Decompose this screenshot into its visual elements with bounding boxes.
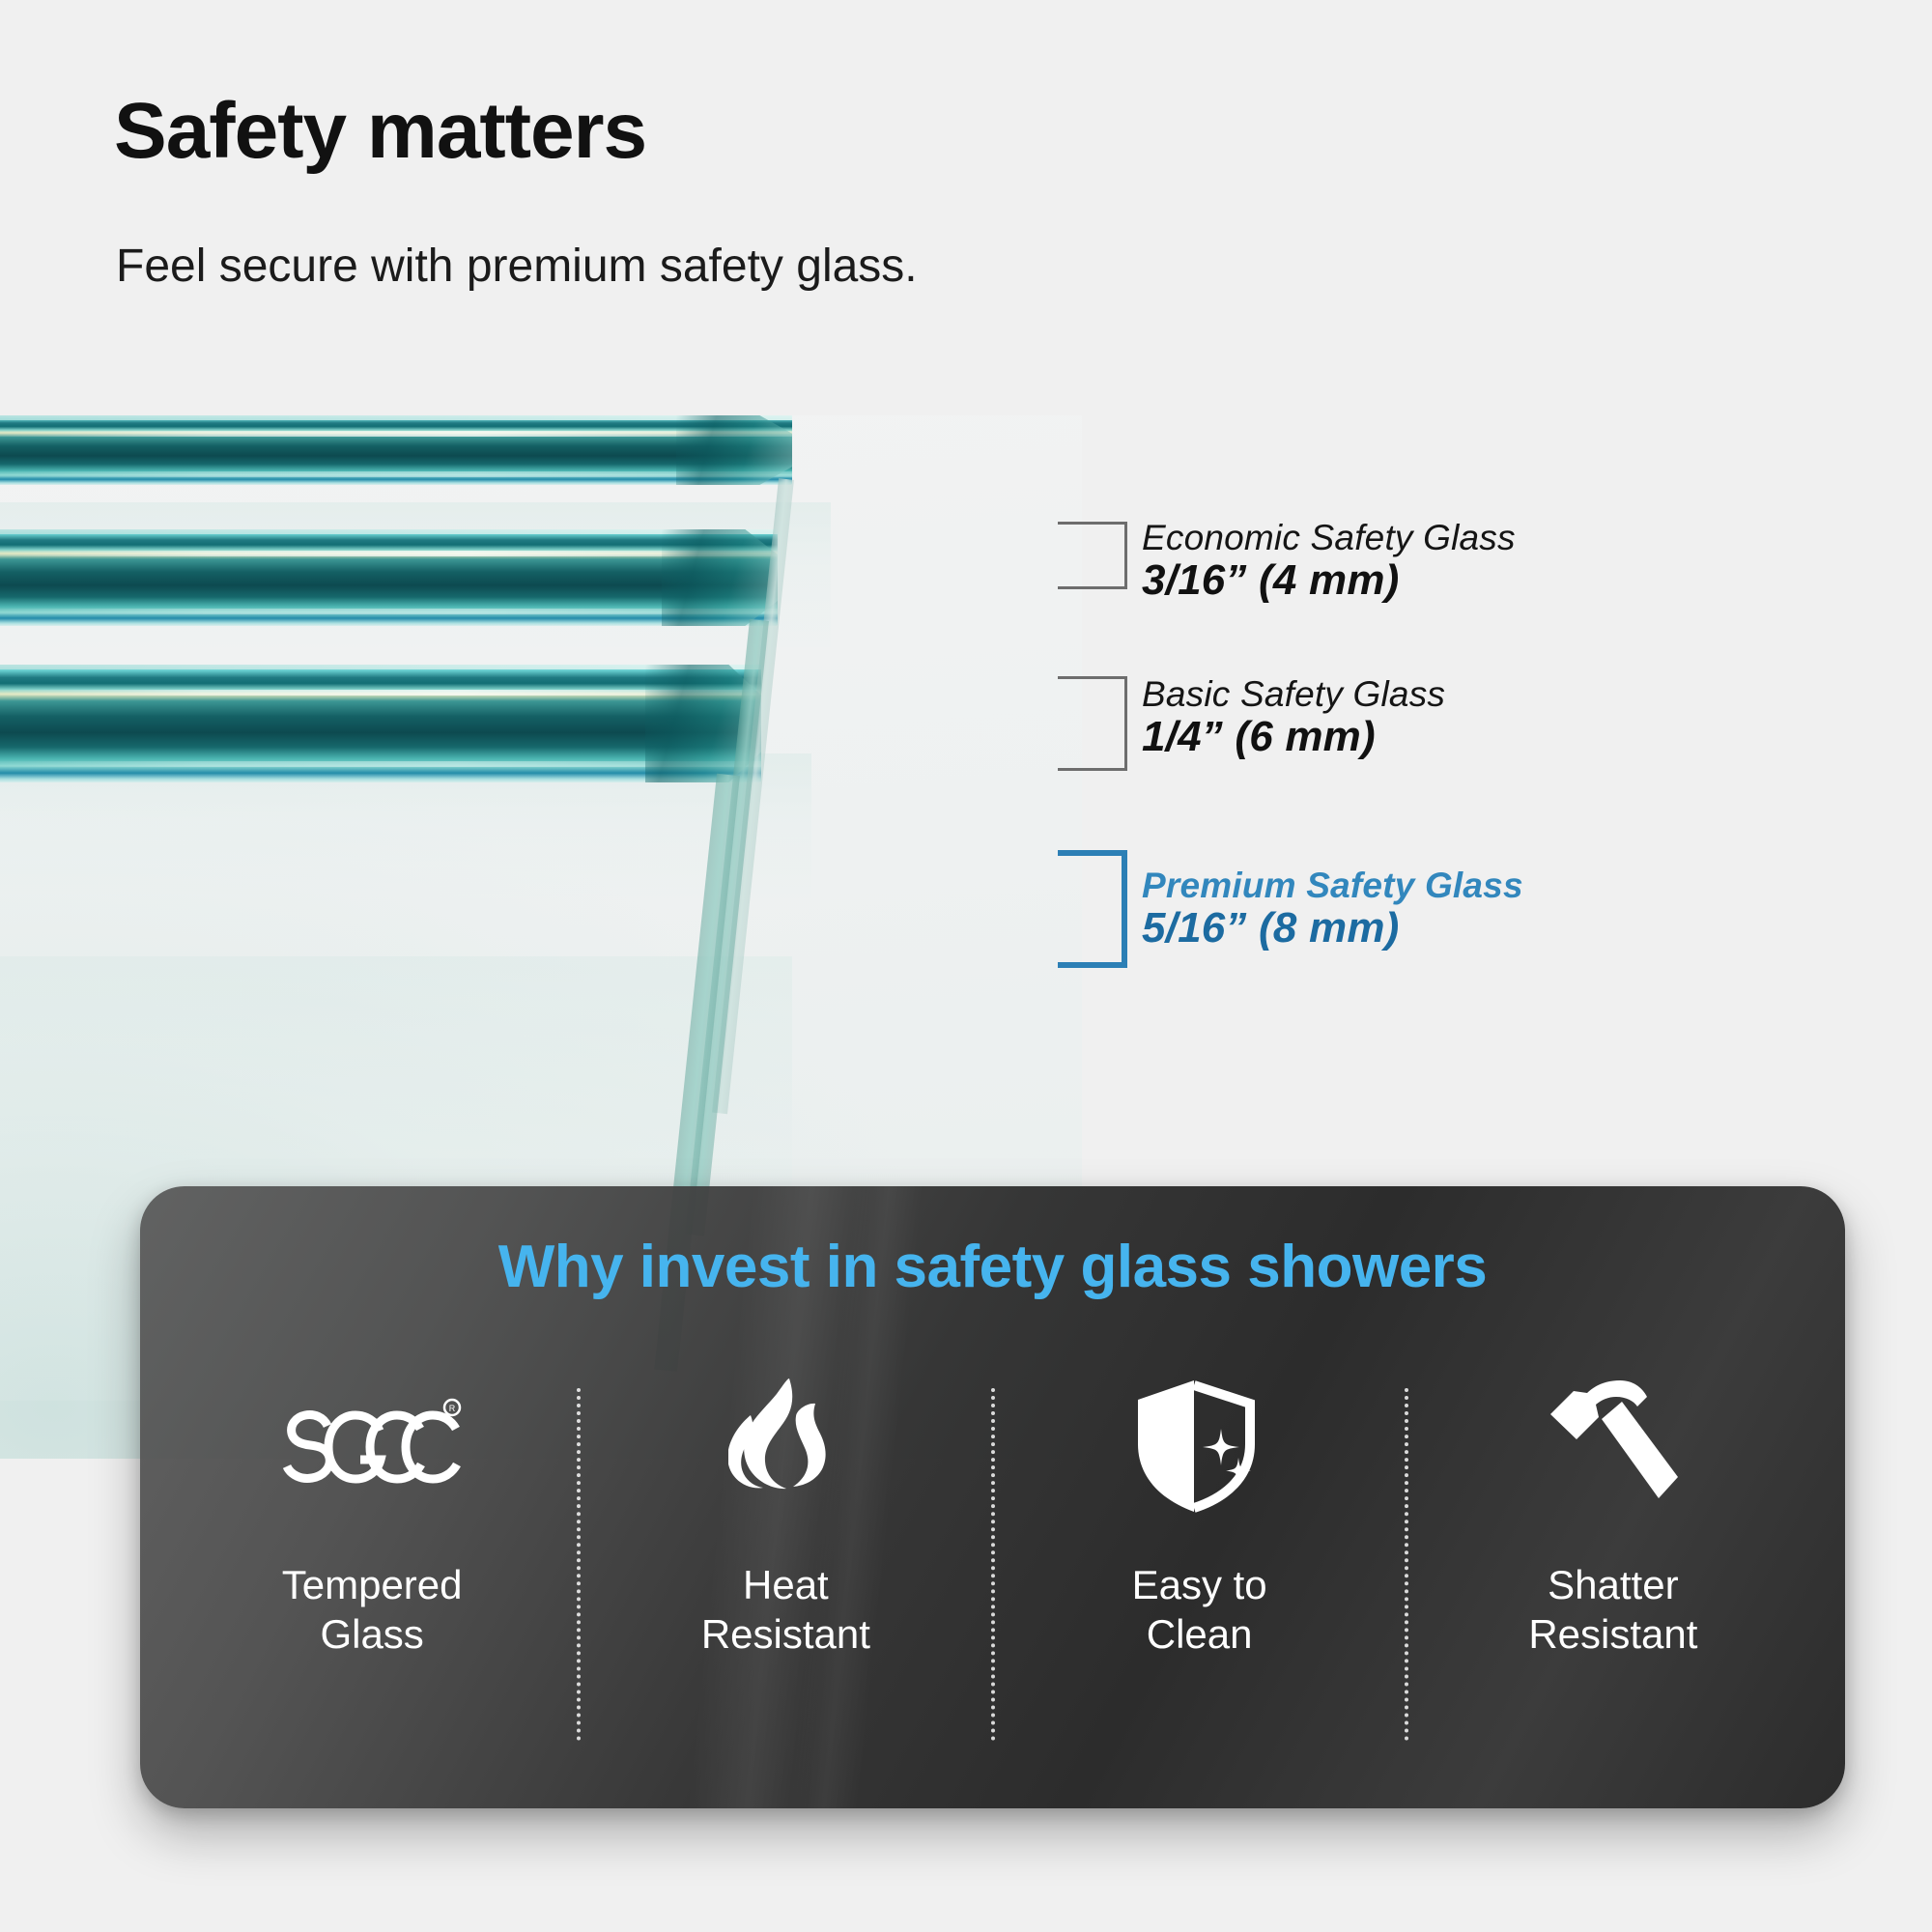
feature-label-line1: Tempered [282, 1562, 463, 1607]
label-premium: Premium Safety Glass 5/16” (8 mm) [1142, 867, 1523, 952]
glass-slab-end-cap [662, 529, 778, 626]
feature-easy-to-clean-label: Easy to Clean [1132, 1560, 1267, 1659]
feature-label-line1: Heat [743, 1562, 829, 1607]
glass-slab-end-cap [676, 415, 792, 485]
feature-heat-resistant: Heat Resistant [581, 1375, 990, 1768]
glass-slab-top-bevel [0, 415, 792, 420]
glass-slab-highlight [0, 431, 792, 437]
glass-slab-top-bevel [0, 529, 778, 534]
glass-slab-highlight-lower [0, 471, 792, 477]
benefits-card-title: Why invest in safety glass showers [140, 1233, 1845, 1301]
label-basic: Basic Safety Glass 1/4” (6 mm) [1142, 676, 1445, 760]
label-premium-dimension: 5/16” (8 mm) [1142, 905, 1523, 952]
feature-label-line2: Resistant [701, 1611, 870, 1657]
feature-label-line1: Shatter [1548, 1562, 1678, 1607]
label-premium-name: Premium Safety Glass [1142, 867, 1523, 905]
feature-tempered-glass: R Tempered Glass [167, 1375, 577, 1768]
feature-easy-to-clean: Easy to Clean [995, 1375, 1405, 1768]
glass-slab-highlight-lower [0, 609, 778, 614]
feature-shatter-resistant: Shatter Resistant [1408, 1375, 1818, 1768]
glass-slab-basic [0, 529, 778, 626]
sgcc-logo-icon: R [280, 1375, 464, 1520]
feature-shatter-resistant-label: Shatter Resistant [1528, 1560, 1697, 1659]
page-subtitle: Feel secure with premium safety glass. [116, 243, 918, 290]
feature-heat-resistant-label: Heat Resistant [701, 1560, 870, 1659]
bracket-basic [1058, 676, 1127, 771]
infographic-root: Safety matters Feel secure with premium … [0, 0, 1932, 1932]
hammer-icon [1541, 1375, 1686, 1520]
bracket-premium [1058, 850, 1127, 968]
benefits-card: Why invest in safety glass showers [140, 1186, 1845, 1808]
shield-sparkle-icon [1132, 1375, 1267, 1520]
page-title: Safety matters [114, 92, 646, 171]
feature-label-line2: Glass [320, 1611, 423, 1657]
glass-slab-economic [0, 415, 792, 485]
feature-label-line2: Resistant [1528, 1611, 1697, 1657]
feature-label-line2: Clean [1147, 1611, 1253, 1657]
bracket-economic [1058, 522, 1127, 589]
label-economic-dimension: 3/16” (4 mm) [1142, 557, 1516, 604]
svg-text:R: R [449, 1404, 456, 1413]
label-economic-name: Economic Safety Glass [1142, 520, 1516, 557]
glass-slab-highlight [0, 551, 778, 556]
label-basic-name: Basic Safety Glass [1142, 676, 1445, 714]
label-basic-dimension: 1/4” (6 mm) [1142, 714, 1445, 760]
feature-label-line1: Easy to [1132, 1562, 1267, 1607]
label-economic: Economic Safety Glass 3/16” (4 mm) [1142, 520, 1516, 604]
glass-slab-premium [0, 665, 761, 782]
feature-tempered-glass-label: Tempered Glass [282, 1560, 463, 1659]
benefits-feature-row: R Tempered Glass [167, 1375, 1818, 1768]
flame-icon [728, 1375, 842, 1520]
